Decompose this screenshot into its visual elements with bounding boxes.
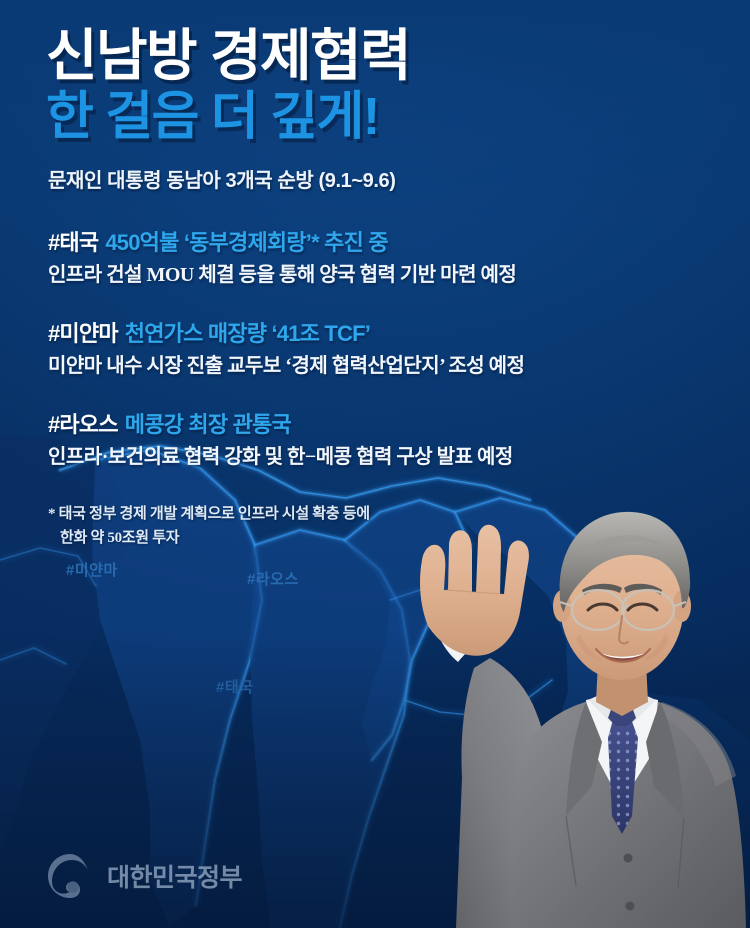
poster-content: 신남방 경제협력 한 걸음 더 깊게! 문재인 대통령 동남아 3개국 순방 (… — [0, 0, 750, 550]
bullet-body: 미얀마 내수 시장 진출 교두보 ‘경제 협력산업단지’ 조성 예정 — [48, 353, 750, 380]
bullet-list: #태국450억불 ‘동부경제회랑’* 추진 중 인프라 건설 MOU 체결 등을… — [0, 193, 750, 471]
map-label-myanmar: #미얀마 — [66, 559, 118, 580]
poster-root: #미얀마 #라오스 #태국 — [0, 0, 750, 928]
government-name: 대한민국정부 — [107, 858, 242, 894]
footnote-line-2: 한화 약 50조원 투자 — [48, 526, 750, 550]
title-line-1: 신남방 경제협력 — [46, 26, 750, 86]
bullet-thailand: #태국450억불 ‘동부경제회랑’* 추진 중 인프라 건설 MOU 체결 등을… — [48, 229, 750, 289]
government-footer: 대한민국정부 — [46, 852, 242, 900]
map-label-laos: #라오스 — [247, 568, 299, 589]
footnote-line-1: * 태국 정부 경제 개발 계획으로 인프라 시설 확충 등에 — [48, 506, 370, 522]
subtitle: 문재인 대통령 동남아 3개국 순방 (9.1~9.6) — [48, 164, 750, 193]
bullet-heading: #태국450억불 ‘동부경제회랑’* 추진 중 — [48, 229, 750, 257]
bullet-body: 인프라 건설 MOU 체결 등을 통해 양국 협력 기반 마련 예정 — [48, 262, 750, 289]
president-portrait-photo — [416, 486, 750, 928]
country-tag: #태국 — [48, 230, 98, 255]
map-label-thailand: #태국 — [216, 676, 253, 697]
map-country-thailand — [250, 530, 410, 928]
country-detail: 450억불 ‘동부경제회랑’* 추진 중 — [105, 230, 387, 255]
footnote: * 태국 정부 경제 개발 계획으로 인프라 시설 확충 등에 한화 약 50조… — [48, 502, 750, 550]
title-line-2: 한 걸음 더 깊게! — [46, 88, 750, 146]
bullet-heading: #라오스메콩강 최장 관통국 — [48, 411, 750, 439]
country-detail: 메콩강 최장 관통국 — [125, 412, 291, 437]
country-tag: #미얀마 — [48, 321, 118, 346]
country-detail: 천연가스 매장량 ‘41조 TCF’ — [125, 321, 370, 346]
title-block: 신남방 경제협력 한 걸음 더 깊게! 문재인 대통령 동남아 3개국 순방 (… — [0, 0, 750, 193]
bullet-laos: #라오스메콩강 최장 관통국 인프라·보건의료 협력 강화 및 한−메콩 협력 … — [48, 411, 750, 471]
country-tag: #라오스 — [48, 412, 118, 437]
bullet-myanmar: #미얀마천연가스 매장량 ‘41조 TCF’ 미얀마 내수 시장 진출 교두보 … — [48, 320, 750, 380]
bullet-body: 인프라·보건의료 협력 강화 및 한−메콩 협력 구상 발표 예정 — [48, 444, 750, 471]
taeguk-logo-icon — [46, 852, 94, 900]
bullet-heading: #미얀마천연가스 매장량 ‘41조 TCF’ — [48, 320, 750, 348]
